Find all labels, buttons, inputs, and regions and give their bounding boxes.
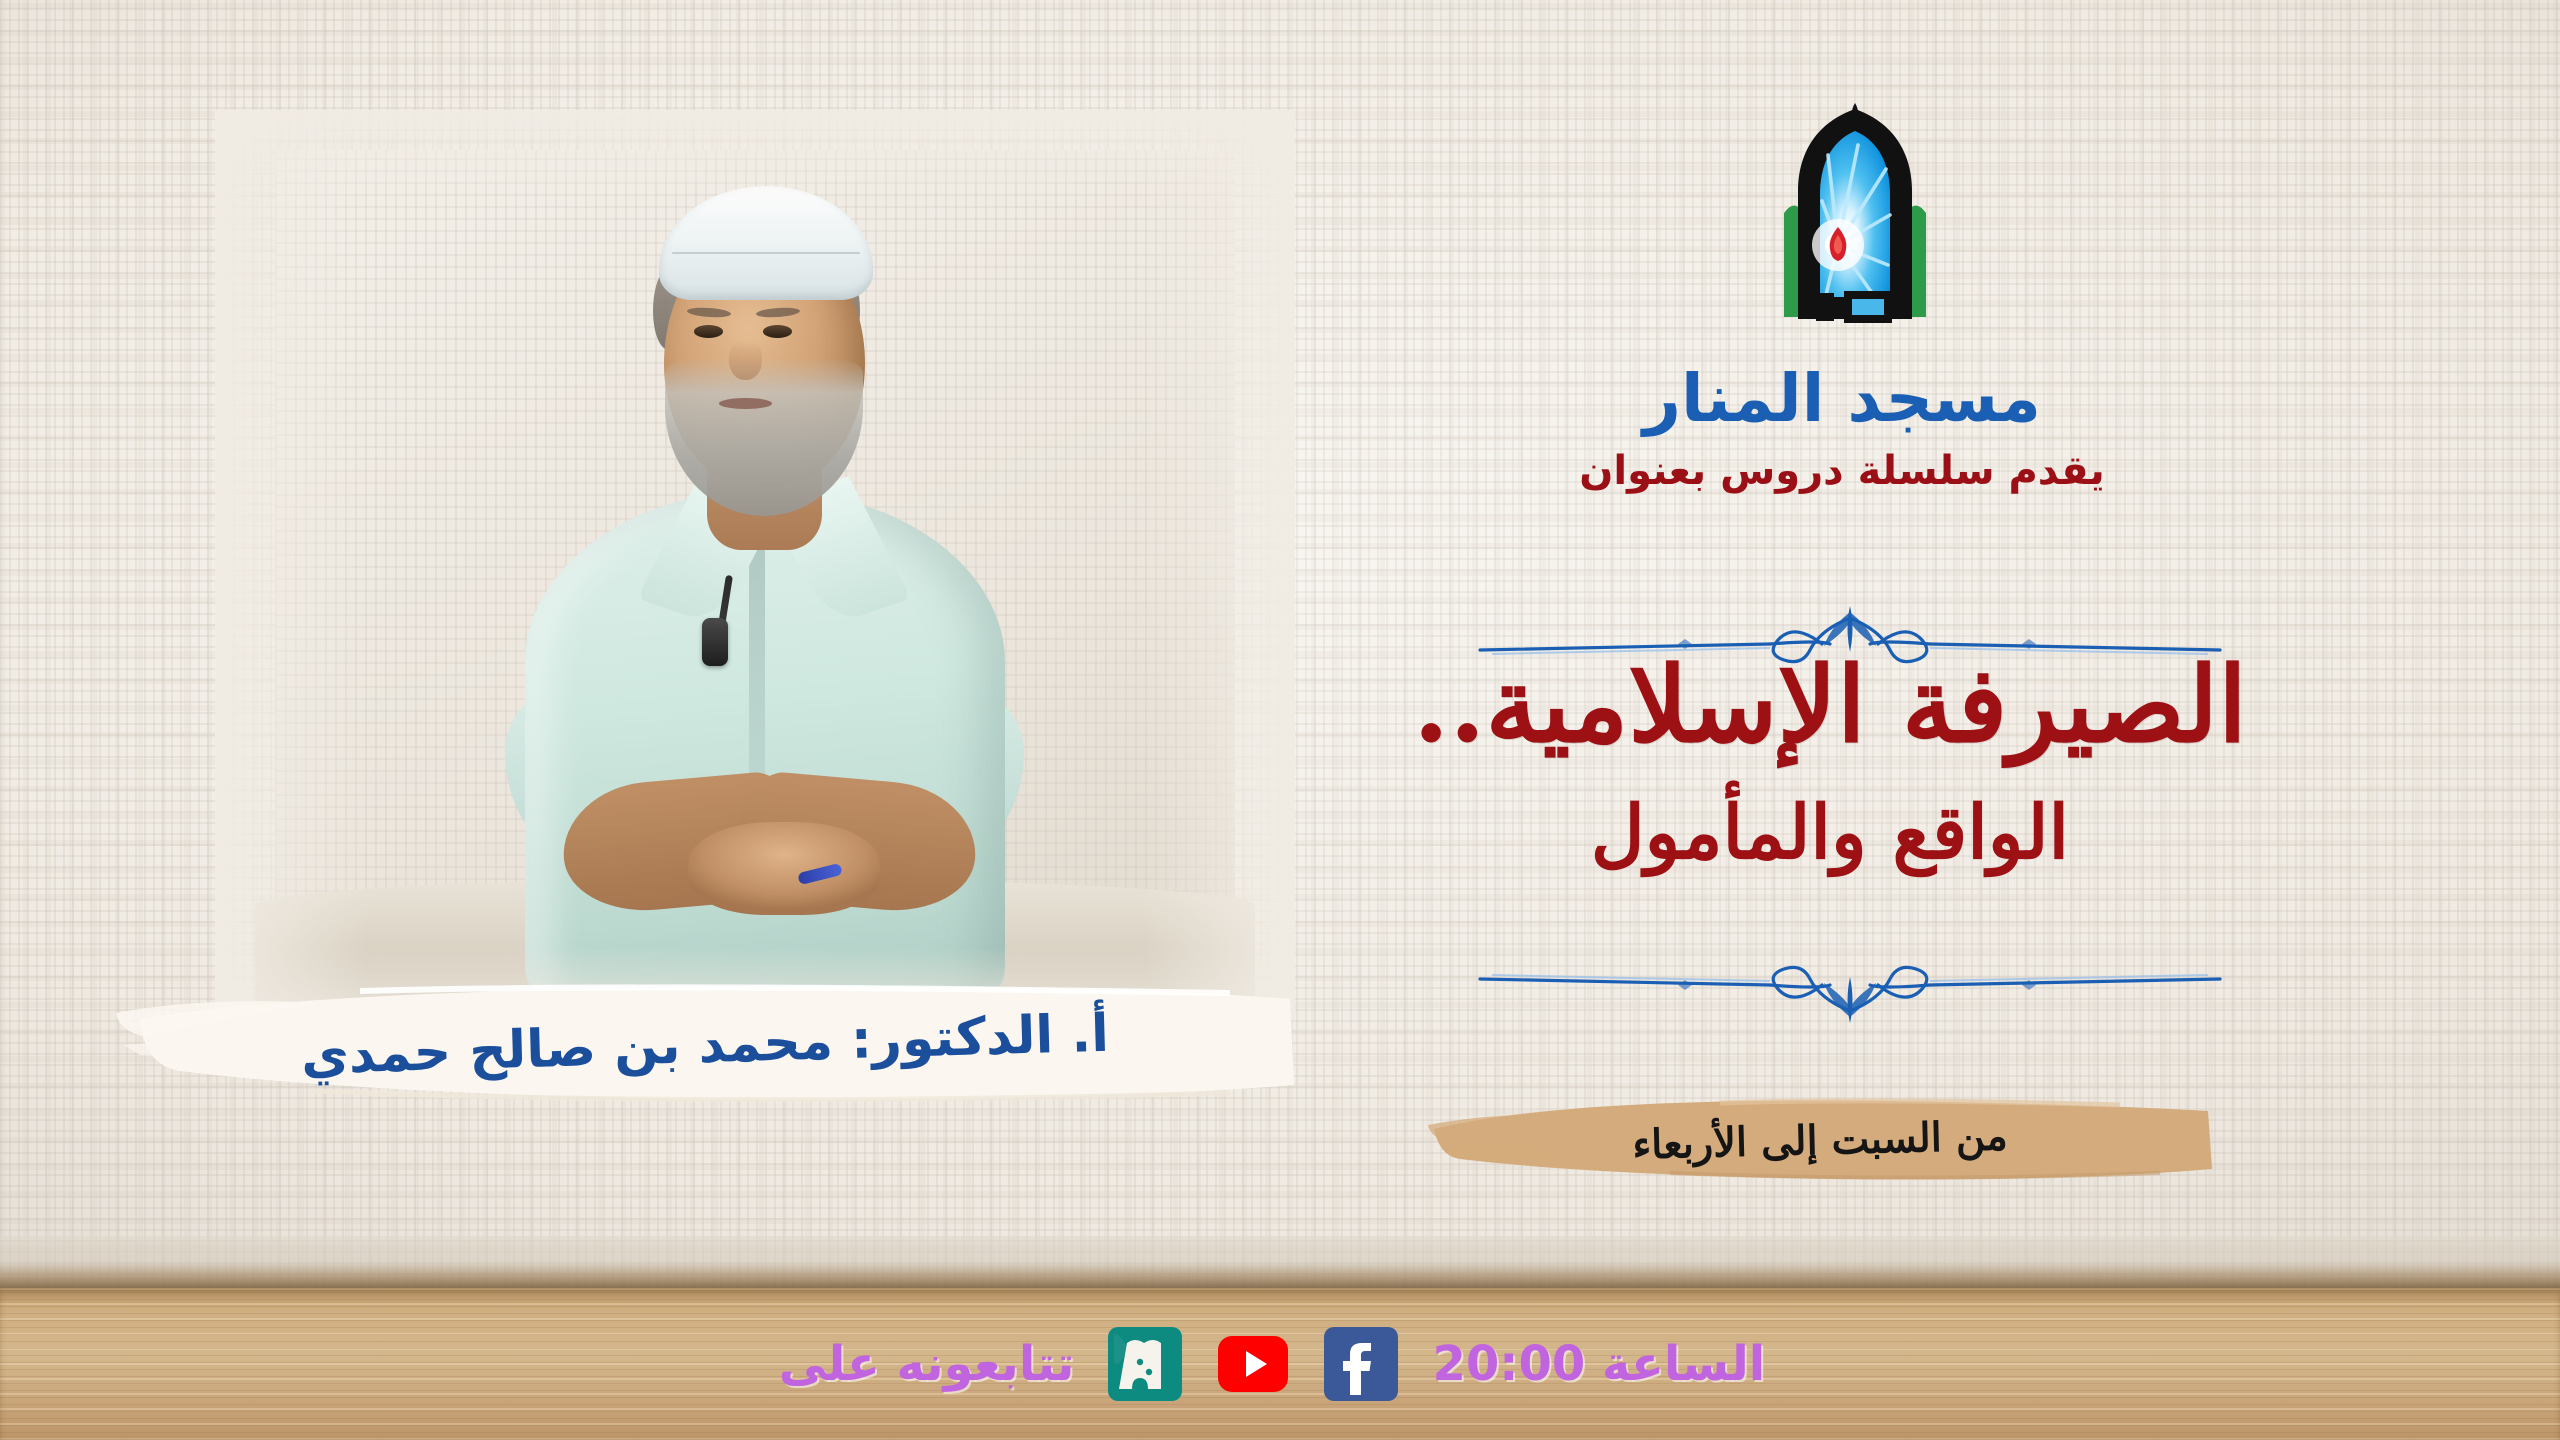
schedule-banner: من السبت إلى الأربعاء [1420, 1085, 2220, 1195]
schedule-text: من السبت إلى الأربعاء [1419, 1075, 2221, 1205]
follow-label: تتابعونه على [779, 1336, 1075, 1392]
wood-top-edge [0, 1262, 2560, 1288]
youtube-icon[interactable] [1216, 1327, 1290, 1401]
speaker-banner: أ. الدكتور: محمد بن صالح حمدي [110, 975, 1300, 1115]
lecture-subtitle: الواقع والمأمول [1240, 790, 2420, 876]
lecture-title: الصيرفة الإسلامية.. [1240, 650, 2420, 760]
broadcast-time: الساعة 20:00 [1432, 1336, 1765, 1392]
facebook-icon[interactable] [1324, 1327, 1398, 1401]
presents-line: يقدم سلسلة دروس بعنوان [1292, 448, 2392, 494]
footer-bar: تتابعونه على الساعة 20:00 [0, 1288, 2560, 1440]
almanar-app-icon[interactable] [1108, 1327, 1182, 1401]
photo-edge-fade [215, 110, 1295, 1020]
flourish-divider-bottom-icon [1470, 955, 2230, 1029]
mosque-lantern-logo [1740, 95, 1970, 325]
speaker-photo [275, 150, 1235, 1000]
poster-canvas: مسجد المنار يقدم سلسلة دروس بعنوان [0, 0, 2560, 1440]
mosque-name: مسجد المنار [1292, 360, 2392, 437]
